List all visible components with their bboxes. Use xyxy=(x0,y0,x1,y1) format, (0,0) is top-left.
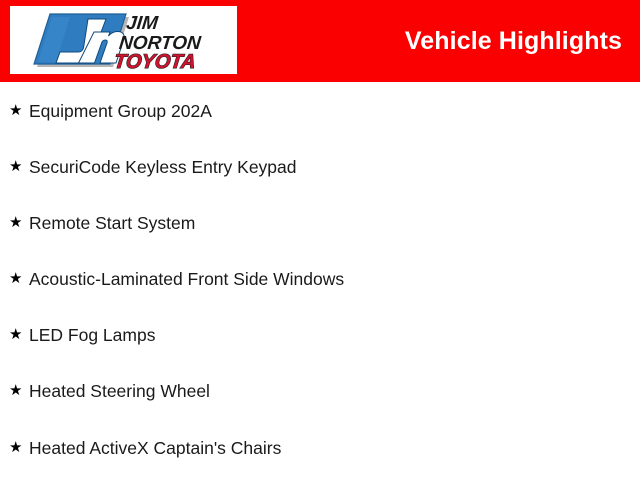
list-item-label: SecuriCode Keyless Entry Keypad xyxy=(29,156,297,178)
vehicle-highlights-page: JIM NORTON TOYOTA Vehicle Highlights ★ E… xyxy=(0,0,640,480)
list-item: ★ Heated ActiveX Captain's Chairs xyxy=(9,436,281,460)
star-icon: ★ xyxy=(9,157,29,177)
logo-text-toyota: TOYOTA xyxy=(113,51,197,73)
list-item-label: Heated ActiveX Captain's Chairs xyxy=(29,437,281,459)
list-item: ★ Heated Steering Wheel xyxy=(9,379,210,403)
list-item-label: Equipment Group 202A xyxy=(29,100,212,122)
list-item-label: Acoustic-Laminated Front Side Windows xyxy=(29,268,344,290)
list-item: ★ LED Fog Lamps xyxy=(9,323,155,347)
list-item-label: Heated Steering Wheel xyxy=(29,380,210,402)
list-item: ★ Equipment Group 202A xyxy=(9,99,212,123)
list-item-label: Remote Start System xyxy=(29,212,195,234)
jim-norton-toyota-logo-icon: JIM NORTON TOYOTA xyxy=(10,6,237,74)
star-icon: ★ xyxy=(9,213,29,233)
list-item: ★ SecuriCode Keyless Entry Keypad xyxy=(9,155,297,179)
star-icon: ★ xyxy=(9,325,29,345)
dealer-logo-artwork: JIM NORTON TOYOTA xyxy=(10,6,237,74)
header-banner: JIM NORTON TOYOTA Vehicle Highlights xyxy=(0,0,640,82)
star-icon: ★ xyxy=(9,269,29,289)
star-icon: ★ xyxy=(9,101,29,121)
list-item: ★ Remote Start System xyxy=(9,211,195,235)
list-item-label: LED Fog Lamps xyxy=(29,324,155,346)
star-icon: ★ xyxy=(9,381,29,401)
page-title: Vehicle Highlights xyxy=(405,26,622,56)
dealer-logo[interactable]: JIM NORTON TOYOTA xyxy=(10,6,237,74)
list-item: ★ Acoustic-Laminated Front Side Windows xyxy=(9,267,344,291)
star-icon: ★ xyxy=(9,438,29,458)
logo-text-jim: JIM xyxy=(125,13,160,34)
highlights-list: ★ Equipment Group 202A ★ SecuriCode Keyl… xyxy=(0,82,640,480)
